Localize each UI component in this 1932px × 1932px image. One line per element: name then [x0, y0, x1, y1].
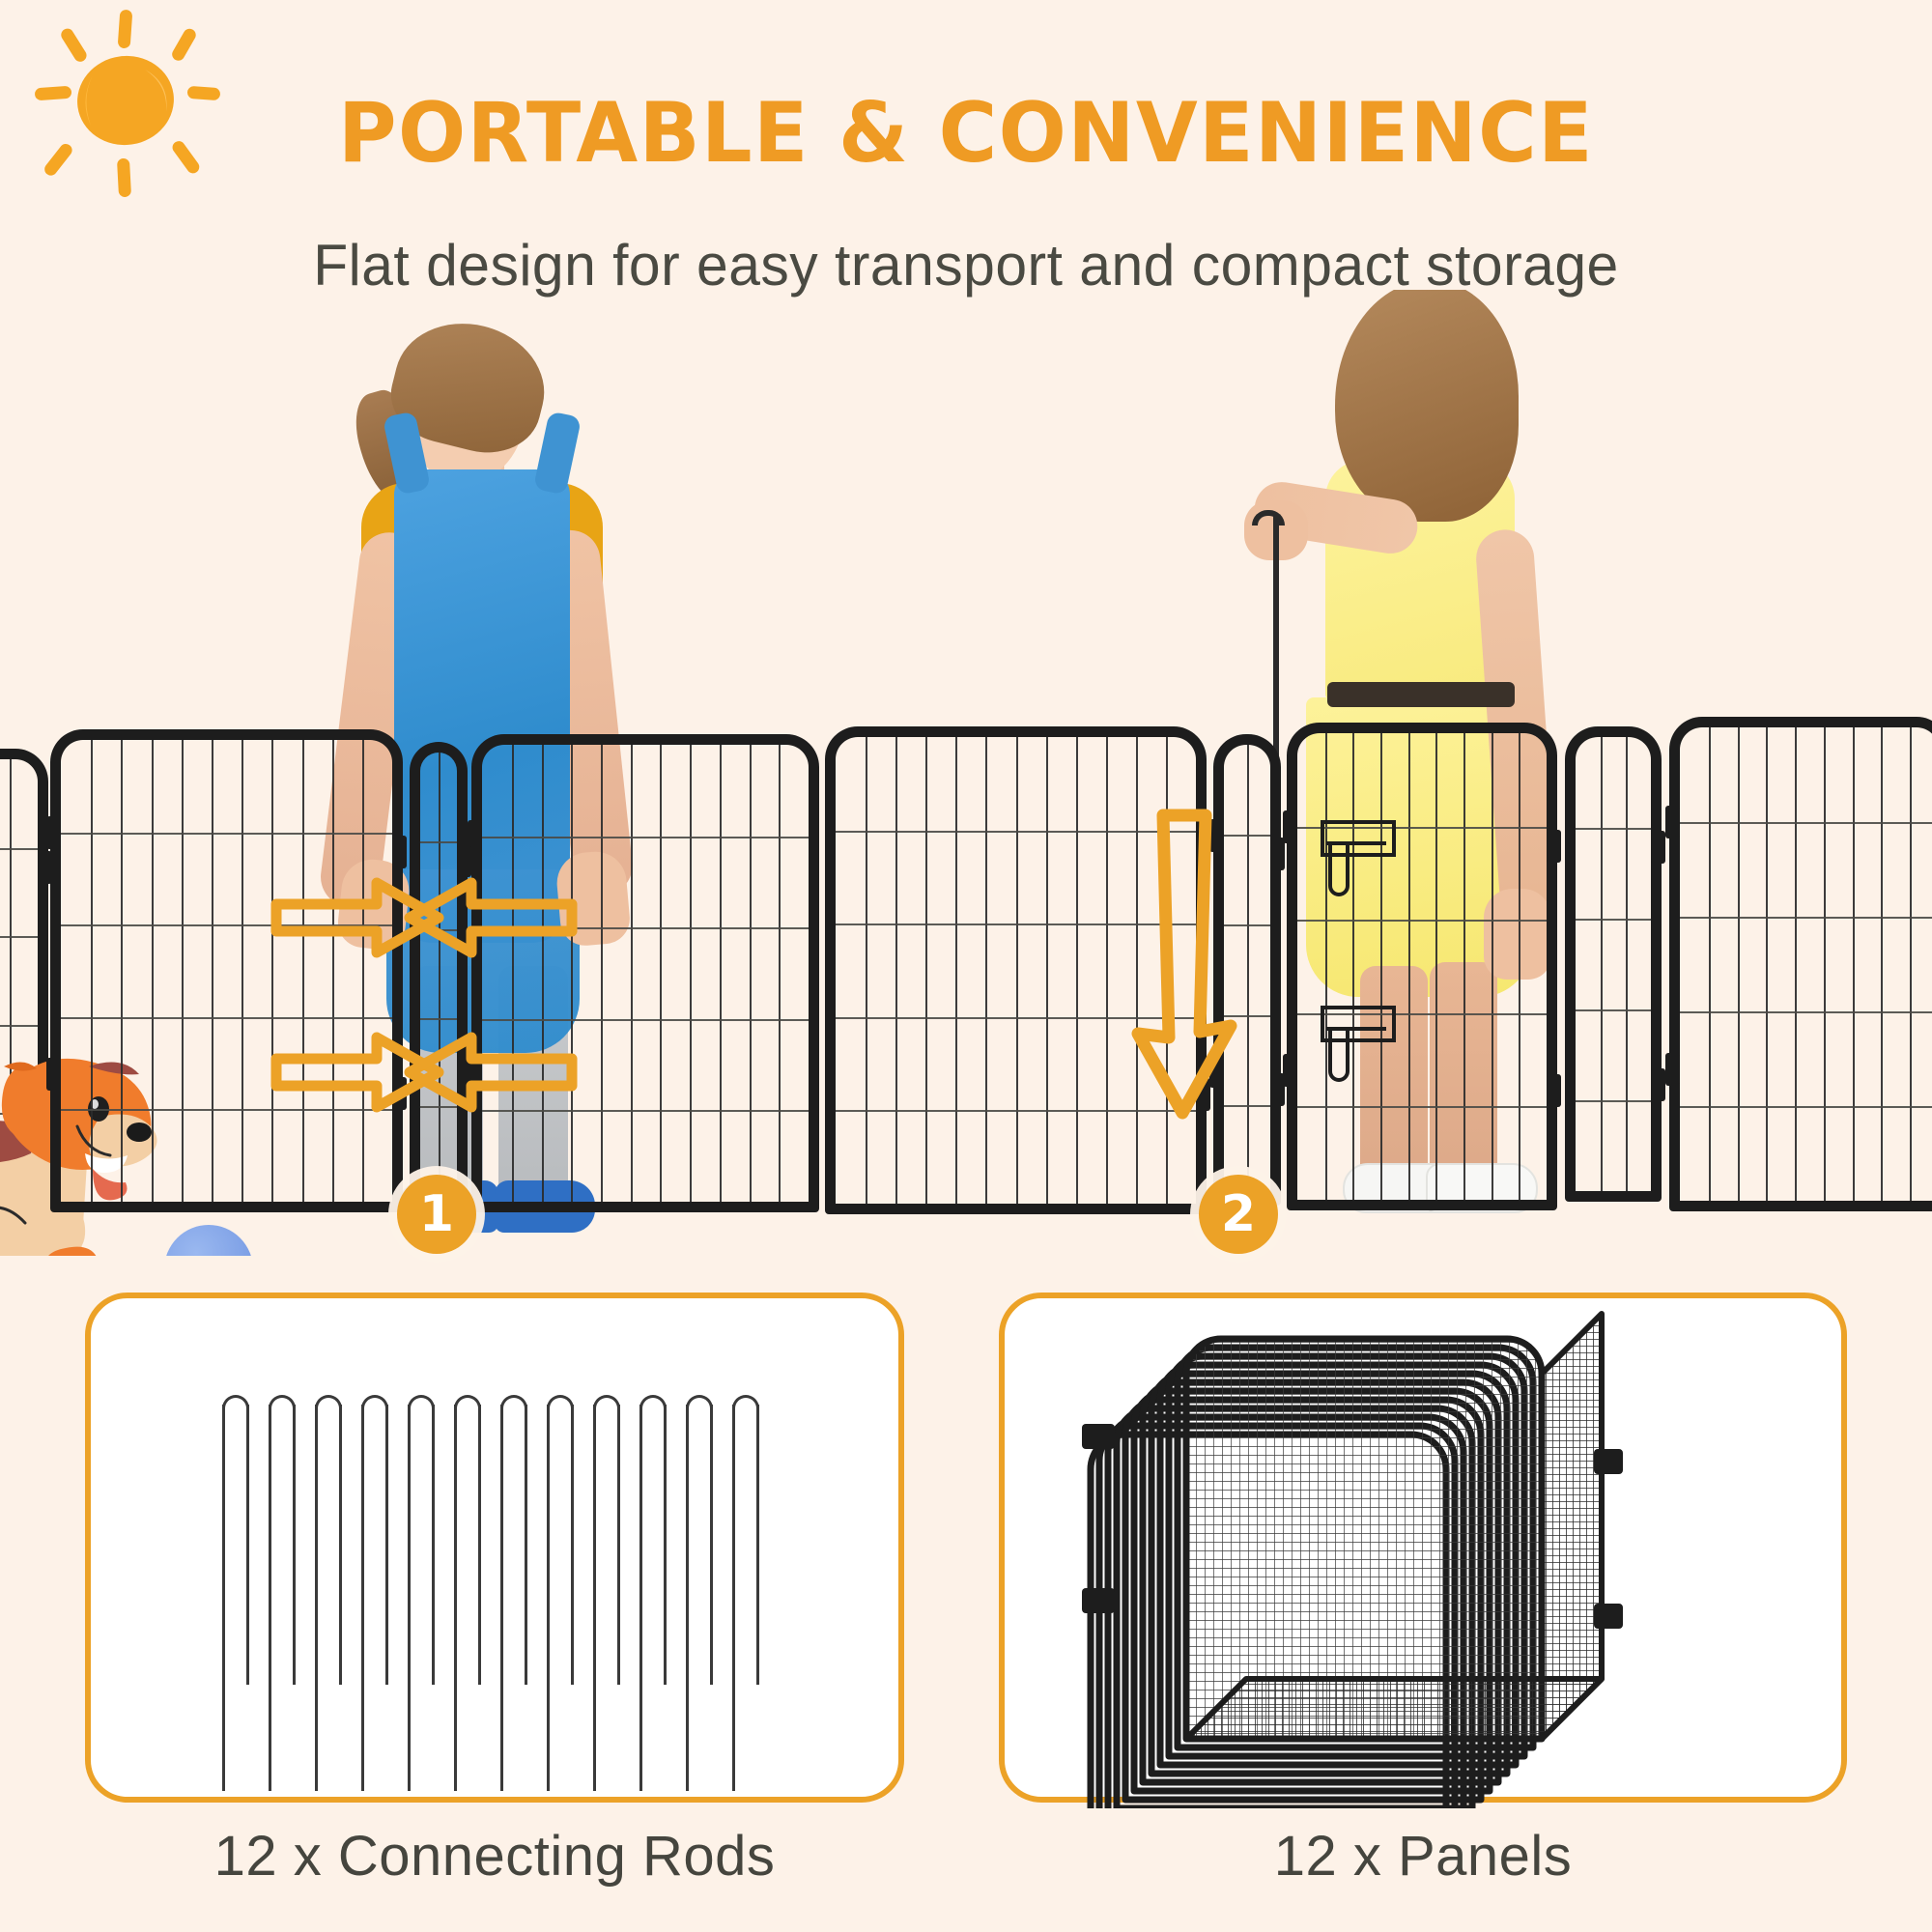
panel-wire-grid [1680, 727, 1932, 1201]
panel-hinge [1270, 838, 1285, 870]
step-badge-1-number: 1 [419, 1185, 454, 1243]
rod-hook [639, 1395, 667, 1412]
panel-hinge [1665, 1053, 1680, 1086]
panel-hinge [1651, 831, 1665, 864]
connecting-rod-tail [525, 1405, 527, 1685]
playpen-panel [410, 742, 468, 1206]
panels-card [999, 1293, 1847, 1803]
rod-hook [408, 1395, 435, 1412]
panel-hinge [46, 816, 61, 849]
step-badge-1: 1 [397, 1175, 476, 1254]
connecting-rod [547, 1405, 550, 1791]
panel-hinge [1283, 1054, 1297, 1087]
step-badge-2: 2 [1199, 1175, 1278, 1254]
panel-wire-grid [420, 753, 457, 1195]
rod-hook [547, 1395, 574, 1412]
connecting-rods-label: 12 x Connecting Rods [85, 1824, 904, 1889]
playpen-panel [471, 734, 819, 1212]
page-subtitle: Flat design for easy transport and compa… [19, 232, 1913, 298]
hair [1335, 290, 1519, 522]
rod-hook [686, 1395, 713, 1412]
panels-label: 12 x Panels [999, 1824, 1847, 1889]
panel-hinge [392, 836, 407, 868]
connecting-rod [361, 1405, 364, 1791]
connecting-rod [732, 1405, 735, 1791]
connecting-rod-tail [617, 1405, 620, 1685]
connecting-rod-tail [246, 1405, 249, 1685]
panel-wire-grid [482, 745, 809, 1202]
connecting-rod [269, 1405, 271, 1791]
insert-rod-down-arrow [1113, 802, 1258, 1130]
connecting-rod [408, 1405, 411, 1791]
connecting-rod-tail [339, 1405, 342, 1685]
rod-hook [732, 1395, 759, 1412]
connecting-rod-tail [385, 1405, 388, 1685]
panels-stack-illustration [1005, 1298, 1841, 1797]
panel-hinge [1270, 1073, 1285, 1106]
fold-arrow-right-top [386, 869, 580, 966]
panel-hinge [1547, 830, 1561, 863]
rod-hook [454, 1395, 481, 1412]
panel-hinge [1283, 810, 1297, 843]
panel-hinge [46, 1058, 61, 1091]
panel-hinge [1547, 1074, 1561, 1107]
playpen-panel [1669, 717, 1932, 1211]
rod-hook [269, 1395, 296, 1412]
connecting-rod [639, 1405, 642, 1791]
rod-hook [315, 1395, 342, 1412]
rod-hook [593, 1395, 620, 1412]
rod-hook [222, 1395, 249, 1412]
connecting-rod-tail [664, 1405, 667, 1685]
connecting-rods-illustration [91, 1298, 898, 1797]
connecting-rod [222, 1405, 225, 1791]
connecting-rods-card [85, 1293, 904, 1803]
panel-hinge [1651, 1068, 1665, 1101]
panel-wire-grid [1576, 737, 1651, 1191]
connecting-rod [686, 1405, 689, 1791]
connecting-rod [500, 1405, 503, 1791]
connecting-rod [315, 1405, 318, 1791]
connecting-rod-tail [293, 1405, 296, 1685]
gate-latch-group [1309, 816, 1425, 1125]
connecting-rod-tail [756, 1405, 759, 1685]
belt [1327, 682, 1515, 707]
connecting-rod [454, 1405, 457, 1791]
panel-hinge [1665, 806, 1680, 838]
rod-hook [361, 1395, 388, 1412]
page-title: PORTABLE & CONVENIENCE [39, 85, 1893, 182]
fold-arrow-right-bottom [386, 1024, 580, 1121]
connecting-rod-tail [432, 1405, 435, 1685]
infographic-root: PORTABLE & CONVENIENCE Flat design for e… [0, 0, 1932, 1932]
connecting-rod-tail [571, 1405, 574, 1685]
playpen-panel [1565, 726, 1662, 1202]
panel-wire-grid [61, 740, 392, 1202]
playpen-panel [50, 729, 403, 1212]
connecting-rod [593, 1405, 596, 1791]
rod-hook [500, 1395, 527, 1412]
connecting-rod-tail [478, 1405, 481, 1685]
connecting-rod-tail [710, 1405, 713, 1685]
step-badge-2-number: 2 [1221, 1185, 1256, 1243]
